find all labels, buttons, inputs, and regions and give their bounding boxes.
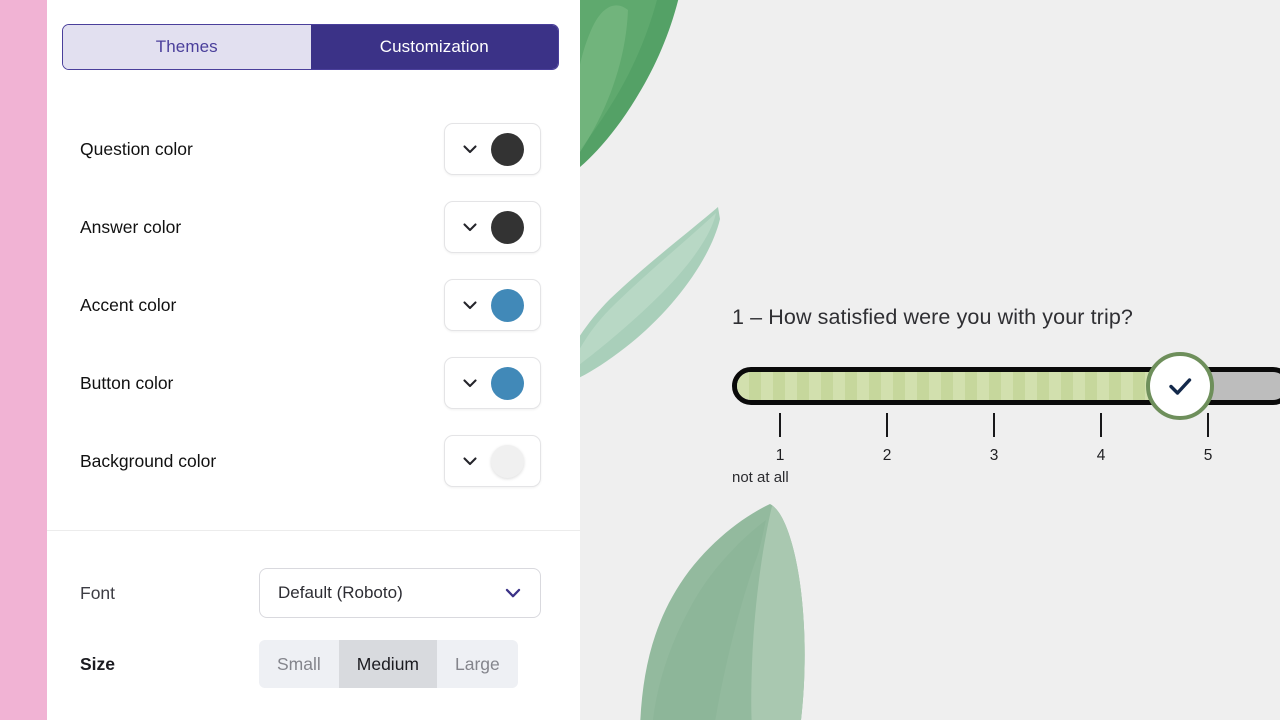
- slider-handle[interactable]: [1146, 352, 1214, 420]
- leaf-dark-top-icon: [580, 0, 738, 200]
- size-option-large-label: Large: [455, 654, 500, 675]
- button-color-picker[interactable]: [444, 357, 541, 409]
- tab-customization[interactable]: Customization: [311, 25, 559, 69]
- row-font: Font Default (Roboto): [47, 568, 580, 618]
- slider-fill: [737, 372, 1177, 400]
- question-color-swatch: [491, 133, 524, 166]
- size-option-medium[interactable]: Medium: [339, 640, 437, 688]
- color-settings-list: Question color Answer color: [47, 110, 580, 500]
- question-color-picker[interactable]: [444, 123, 541, 175]
- pink-accent-strip: [0, 0, 47, 720]
- tick-label: 4: [1081, 447, 1121, 465]
- tick-label: 2: [867, 447, 907, 465]
- chevron-down-icon: [460, 217, 480, 237]
- check-icon: [1164, 370, 1196, 402]
- tab-themes[interactable]: Themes: [63, 25, 311, 69]
- tick-mark: [886, 413, 889, 437]
- chevron-down-icon: [460, 139, 480, 159]
- row-background-color: Background color: [47, 422, 580, 500]
- row-answer-color: Answer color: [47, 188, 580, 266]
- tick-mark: [1100, 413, 1103, 437]
- tick-mark: [779, 413, 782, 437]
- accent-color-label: Accent color: [80, 295, 176, 316]
- scale-min-label: not at all: [732, 469, 789, 486]
- size-label: Size: [80, 654, 115, 675]
- chevron-down-icon: [502, 582, 524, 604]
- satisfaction-slider[interactable]: [732, 367, 1280, 405]
- font-selected-value: Default (Roboto): [278, 583, 403, 603]
- answer-color-swatch: [491, 211, 524, 244]
- accent-color-picker[interactable]: [444, 279, 541, 331]
- background-color-swatch: [491, 445, 524, 478]
- size-option-large[interactable]: Large: [437, 640, 518, 688]
- font-label: Font: [80, 583, 115, 604]
- row-size: Size Small Medium Large: [47, 640, 580, 688]
- chevron-down-icon: [460, 451, 480, 471]
- size-option-medium-label: Medium: [357, 654, 419, 675]
- tick-label: 3: [974, 447, 1014, 465]
- tick-mark: [1207, 413, 1210, 437]
- chevron-down-icon: [460, 373, 480, 393]
- tick-mark: [993, 413, 996, 437]
- accent-color-swatch: [491, 289, 524, 322]
- survey-preview-pane: 1 – How satisfied were you with your tri…: [580, 0, 1280, 720]
- background-color-picker[interactable]: [444, 435, 541, 487]
- scale-tick-5: 5: [1188, 413, 1228, 465]
- question-color-label: Question color: [80, 139, 193, 160]
- scale-tick-3: 3: [974, 413, 1014, 465]
- background-color-label: Background color: [80, 451, 216, 472]
- scale-tick-2: 2: [867, 413, 907, 465]
- panel-tabbar: Themes Customization: [62, 24, 559, 70]
- answer-color-picker[interactable]: [444, 201, 541, 253]
- row-accent-color: Accent color: [47, 266, 580, 344]
- size-segmented-control: Small Medium Large: [259, 640, 518, 688]
- scale-tick-4: 4: [1081, 413, 1121, 465]
- leaf-pale-middle-icon: [580, 205, 730, 395]
- size-option-small[interactable]: Small: [259, 640, 339, 688]
- chevron-down-icon: [460, 295, 480, 315]
- scale-ticks: 1 2 3 4 5: [732, 413, 1280, 493]
- question-title: 1 – How satisfied were you with your tri…: [732, 305, 1280, 330]
- tick-label: 1: [760, 447, 800, 465]
- leaf-sage-bottom-icon: [594, 498, 824, 720]
- tick-label: 5: [1188, 447, 1228, 465]
- tab-themes-label: Themes: [156, 37, 218, 57]
- customization-panel: Themes Customization Question color Answ…: [47, 0, 580, 720]
- panel-divider: [47, 530, 580, 531]
- font-select[interactable]: Default (Roboto): [259, 568, 541, 618]
- row-button-color: Button color: [47, 344, 580, 422]
- app-screen: Themes Customization Question color Answ…: [0, 0, 1280, 720]
- button-color-swatch: [491, 367, 524, 400]
- size-option-small-label: Small: [277, 654, 321, 675]
- row-question-color: Question color: [47, 110, 580, 188]
- question-block: 1 – How satisfied were you with your tri…: [732, 305, 1280, 330]
- button-color-label: Button color: [80, 373, 173, 394]
- answer-color-label: Answer color: [80, 217, 181, 238]
- tab-customization-label: Customization: [380, 37, 489, 57]
- scale-tick-1: 1: [760, 413, 800, 465]
